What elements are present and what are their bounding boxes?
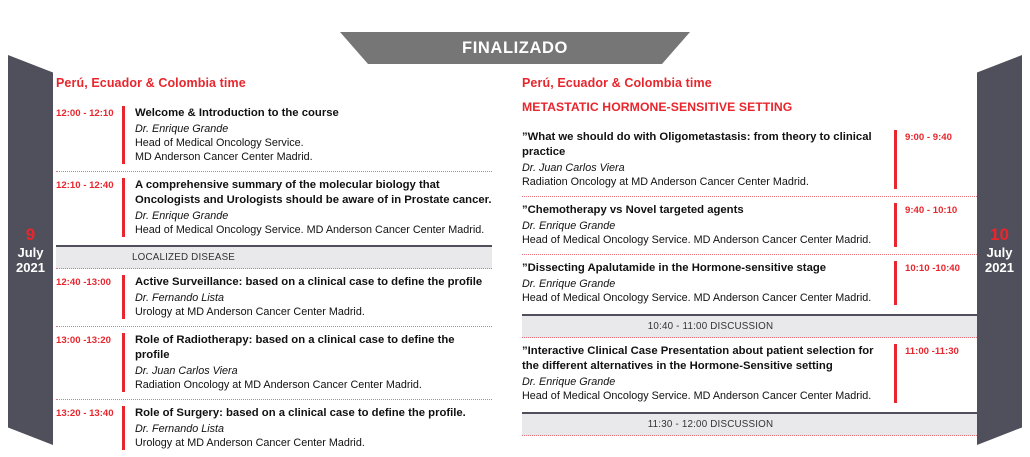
session-speaker: Dr. Fernando Lista <box>135 422 492 436</box>
session-time: 9:00 - 9:40 <box>897 130 977 189</box>
date-badge-right-day: 10 <box>990 225 1009 245</box>
session-affiliation: Head of Medical Oncology Service. MD And… <box>522 233 884 247</box>
table-row: 12:40 -13:00 Active Surveillance: based … <box>56 269 492 327</box>
session-title: ”Interactive Clinical Case Presentation … <box>522 344 884 374</box>
session-time: 9:40 - 10:10 <box>897 203 977 247</box>
session-title: ”Chemotherapy vs Novel targeted agents <box>522 203 884 218</box>
session-title: ”Dissecting Apalutamide in the Hormone-s… <box>522 261 884 276</box>
session-title: A comprehensive summary of the molecular… <box>135 178 492 208</box>
session-time: 10:10 -10:40 <box>897 261 977 305</box>
session-affiliation: Radiation Oncology at MD Anderson Cancer… <box>522 175 884 189</box>
session-title: Welcome & Introduction to the course <box>135 106 492 121</box>
session-affiliation-2: MD Anderson Cancer Center Madrid. <box>135 150 492 164</box>
session-speaker: Dr. Enrique Grande <box>522 375 884 389</box>
agenda-column-day-9: Perú, Ecuador & Colombia time 12:00 - 12… <box>56 76 492 457</box>
session-title: Role of Surgery: based on a clinical cas… <box>135 406 492 421</box>
session-body: ”Chemotherapy vs Novel targeted agents D… <box>522 203 884 247</box>
session-time: 13:20 - 13:40 <box>56 406 122 450</box>
row-accent-rule <box>122 275 125 319</box>
table-row: 13:00 -13:20 Role of Radiotherapy: based… <box>56 327 492 400</box>
session-body: ”Dissecting Apalutamide in the Hormone-s… <box>522 261 884 305</box>
session-body: Active Surveillance: based on a clinical… <box>135 275 492 319</box>
session-body: ”What we should do with Oligometastasis:… <box>522 130 884 189</box>
session-title: Role of Radiotherapy: based on a clinica… <box>135 333 492 363</box>
session-time: 13:00 -13:20 <box>56 333 122 392</box>
table-row: ”What we should do with Oligometastasis:… <box>522 124 977 197</box>
top-banner-area: FINALIZADO <box>0 0 1030 72</box>
date-badge-day-9: 9 July 2021 <box>8 55 53 445</box>
session-speaker: Dr. Fernando Lista <box>135 291 492 305</box>
row-accent-rule <box>122 333 125 392</box>
date-badge-day-10: 10 July 2021 <box>977 55 1022 445</box>
left-timezone-title: Perú, Ecuador & Colombia time <box>56 76 492 90</box>
right-timezone-title: Perú, Ecuador & Colombia time <box>522 76 977 90</box>
session-body: Welcome & Introduction to the course Dr.… <box>135 106 492 164</box>
session-time: 12:00 - 12:10 <box>56 106 122 164</box>
session-title: Active Surveillance: based on a clinical… <box>135 275 492 290</box>
agenda-column-day-10: Perú, Ecuador & Colombia time METASTATIC… <box>522 76 977 436</box>
status-banner-label: FINALIZADO <box>462 39 568 58</box>
session-body: ”Interactive Clinical Case Presentation … <box>522 344 884 403</box>
session-time: 12:40 -13:00 <box>56 275 122 319</box>
table-row: ”Interactive Clinical Case Presentation … <box>522 338 977 410</box>
session-affiliation: Head of Medical Oncology Service. <box>135 136 492 150</box>
row-accent-rule <box>122 406 125 450</box>
session-speaker: Dr. Enrique Grande <box>522 277 884 291</box>
date-badge-right-month: July <box>986 245 1012 260</box>
session-title: ”What we should do with Oligometastasis:… <box>522 130 884 160</box>
session-body: A comprehensive summary of the molecular… <box>135 178 492 237</box>
session-speaker: Dr. Enrique Grande <box>522 219 884 233</box>
section-band-localized-disease: LOCALIZED DISEASE <box>56 245 492 269</box>
date-badge-left-year: 2021 <box>16 260 45 275</box>
status-banner: FINALIZADO <box>340 32 690 64</box>
table-row: ”Chemotherapy vs Novel targeted agents D… <box>522 197 977 255</box>
right-section-title: METASTATIC HORMONE-SENSITIVE SETTING <box>522 100 977 114</box>
table-row: ”Dissecting Apalutamide in the Hormone-s… <box>522 255 977 312</box>
session-body: Role of Radiotherapy: based on a clinica… <box>135 333 492 392</box>
session-speaker: Dr. Juan Carlos Viera <box>135 364 492 378</box>
session-speaker: Dr. Enrique Grande <box>135 209 492 223</box>
discussion-band-1040: 10:40 - 11:00 DISCUSSION <box>522 314 977 338</box>
session-time: 11:00 -11:30 <box>897 344 977 403</box>
session-affiliation: Urology at MD Anderson Cancer Center Mad… <box>135 436 492 450</box>
session-time: 12:10 - 12:40 <box>56 178 122 237</box>
row-accent-rule <box>122 178 125 237</box>
session-affiliation: Head of Medical Oncology Service. MD And… <box>522 291 884 305</box>
date-badge-left-day: 9 <box>26 225 35 245</box>
row-accent-rule <box>122 106 125 164</box>
session-speaker: Dr. Enrique Grande <box>135 122 492 136</box>
table-row: 13:20 - 13:40 Role of Surgery: based on … <box>56 400 492 457</box>
session-body: Role of Surgery: based on a clinical cas… <box>135 406 492 450</box>
session-affiliation: Urology at MD Anderson Cancer Center Mad… <box>135 305 492 319</box>
date-badge-right-year: 2021 <box>985 260 1014 275</box>
table-row: 12:10 - 12:40 A comprehensive summary of… <box>56 172 492 244</box>
session-speaker: Dr. Juan Carlos Viera <box>522 161 884 175</box>
table-row: 12:00 - 12:10 Welcome & Introduction to … <box>56 100 492 172</box>
session-affiliation: Head of Medical Oncology Service. MD And… <box>522 389 884 403</box>
discussion-band-1130: 11:30 - 12:00 DISCUSSION <box>522 412 977 436</box>
session-affiliation: Radiation Oncology at MD Anderson Cancer… <box>135 378 492 392</box>
date-badge-left-month: July <box>17 245 43 260</box>
session-affiliation: Head of Medical Oncology Service. MD And… <box>135 223 492 237</box>
